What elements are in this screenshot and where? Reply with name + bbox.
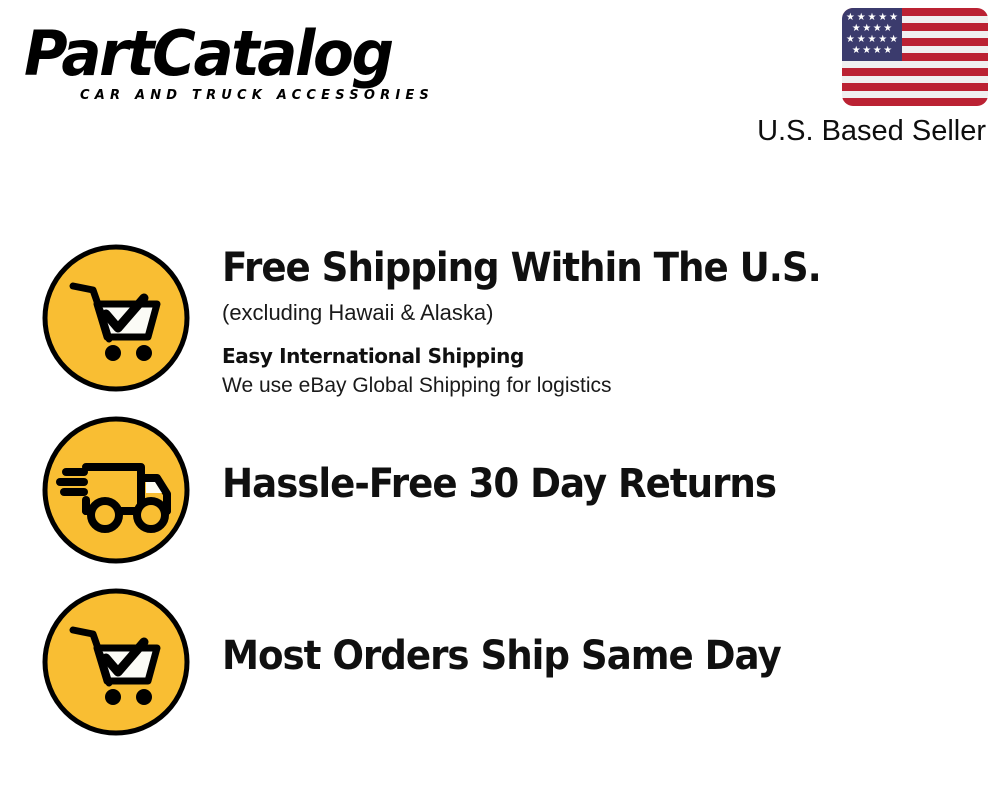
cart-check-icon xyxy=(40,242,192,394)
us-based-seller-label: U.S. Based Seller xyxy=(720,115,986,148)
feature-sub-title: Easy International Shipping xyxy=(222,342,866,370)
feature-text-same-day: Most Orders Ship Same Day xyxy=(222,586,823,680)
feature-title: Hassle-Free 30 Day Returns xyxy=(222,460,776,508)
brand-logo[interactable]: PartCatalog CAR AND TRUCK ACCESSORIES xyxy=(24,22,494,122)
delivery-truck-icon xyxy=(40,414,192,566)
feature-row-returns: Hassle-Free 30 Day Returns xyxy=(40,414,818,566)
us-based-seller-badge: ★★★★★ ★★★★ ★★★★★ ★★★★ U.S. Based Seller xyxy=(720,8,988,148)
feature-sub-text: We use eBay Global Shipping for logistic… xyxy=(222,371,866,401)
feature-title: Most Orders Ship Same Day xyxy=(222,632,781,680)
feature-row-free-shipping: Free Shipping Within The U.S. (excluding… xyxy=(40,242,866,401)
cart-check-icon xyxy=(40,586,192,738)
brand-wordmark: PartCatalog xyxy=(24,22,475,86)
us-flag-icon: ★★★★★ ★★★★ ★★★★★ ★★★★ xyxy=(842,8,988,106)
page-header: PartCatalog CAR AND TRUCK ACCESSORIES xyxy=(0,0,1000,170)
brand-tagline: CAR AND TRUCK ACCESSORIES xyxy=(80,88,494,103)
feature-note: (excluding Hawaii & Alaska) xyxy=(222,298,866,328)
flag-canton: ★★★★★ ★★★★ ★★★★★ ★★★★ xyxy=(842,8,902,61)
feature-text-free-shipping: Free Shipping Within The U.S. (excluding… xyxy=(222,242,866,401)
feature-title: Free Shipping Within The U.S. xyxy=(222,244,821,292)
feature-text-returns: Hassle-Free 30 Day Returns xyxy=(222,414,818,508)
feature-row-same-day: Most Orders Ship Same Day xyxy=(40,586,823,738)
